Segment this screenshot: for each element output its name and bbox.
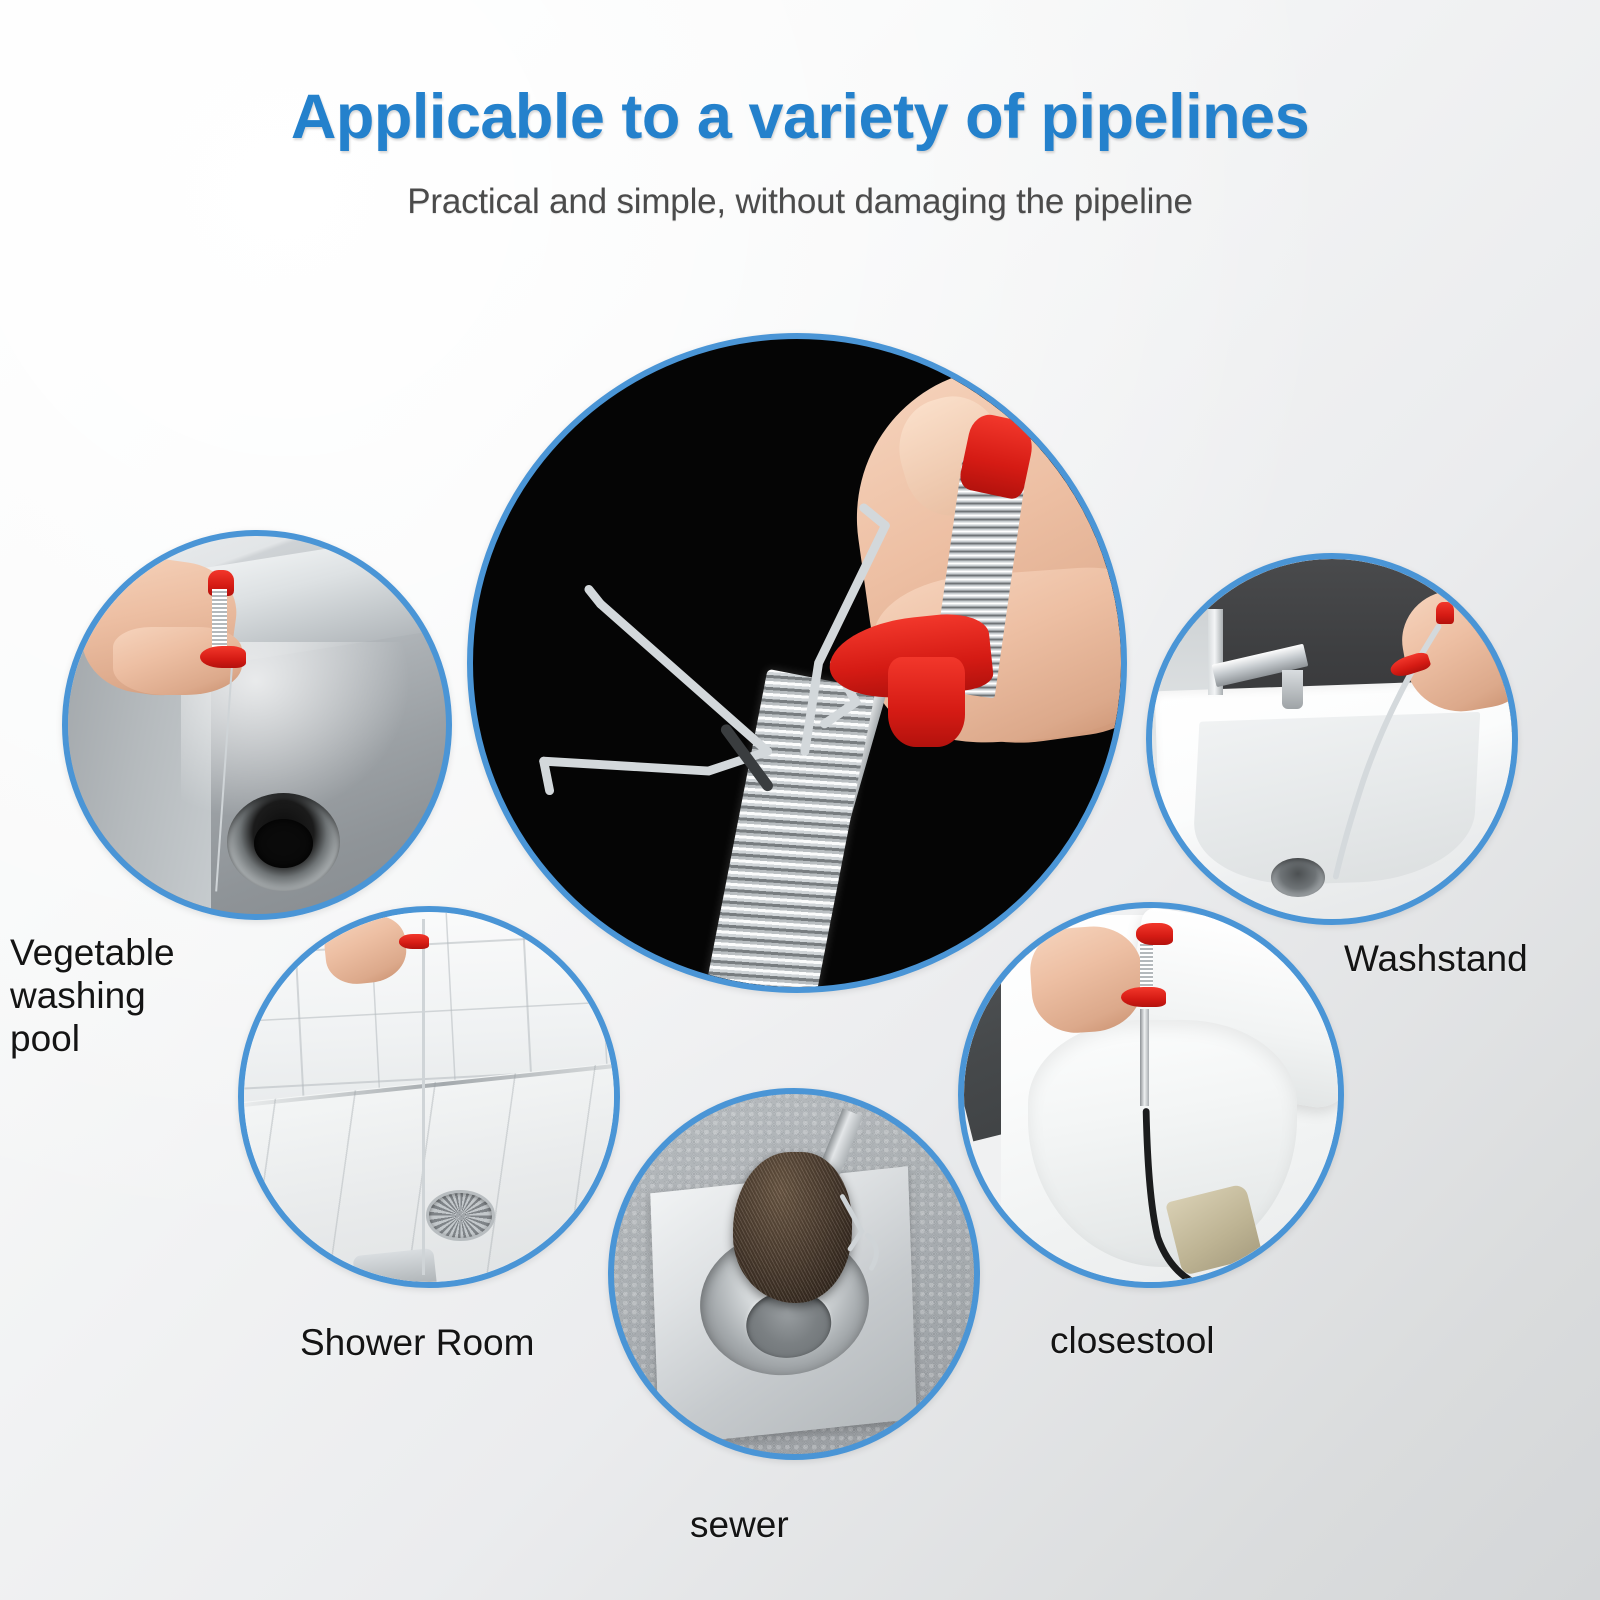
tool-wire (1152, 559, 1512, 919)
page-subtitle: Practical and simple, without damaging t… (0, 182, 1600, 222)
scene-product-closeup (473, 339, 1121, 987)
floor-drain-grate (429, 1193, 492, 1237)
caption-shower-room: Shower Room (300, 1322, 620, 1365)
sink-drain (227, 793, 340, 891)
circle-washstand (1146, 553, 1518, 925)
tool-handle-trigger (399, 934, 429, 949)
caption-washstand: Washstand (1344, 938, 1600, 981)
tool-handle-trigger (1121, 987, 1166, 1008)
scene-stainless-sink (68, 536, 446, 914)
caption-vegetable-washing-pool: Vegetable washing pool (10, 932, 310, 1061)
scene-sewer-drain (614, 1094, 974, 1454)
scene-washstand (1152, 559, 1512, 919)
circle-vegetable-washing-pool (62, 530, 452, 920)
claw-hooks (614, 1094, 974, 1454)
caption-closestool: closestool (1050, 1320, 1350, 1363)
product-infographic-poster: Applicable to a variety of pipelines Pra… (0, 0, 1600, 1600)
handle-grip (888, 657, 966, 748)
tool-handle-trigger (200, 646, 245, 669)
tool-handle-cap (1136, 923, 1173, 945)
circle-sewer (608, 1088, 980, 1460)
tool-wire (422, 919, 425, 1274)
circle-product-closeup (467, 333, 1127, 993)
page-title: Applicable to a variety of pipelines (0, 84, 1600, 150)
poster-header: Applicable to a variety of pipelines Pra… (0, 84, 1600, 222)
caption-sewer: sewer (690, 1504, 930, 1547)
